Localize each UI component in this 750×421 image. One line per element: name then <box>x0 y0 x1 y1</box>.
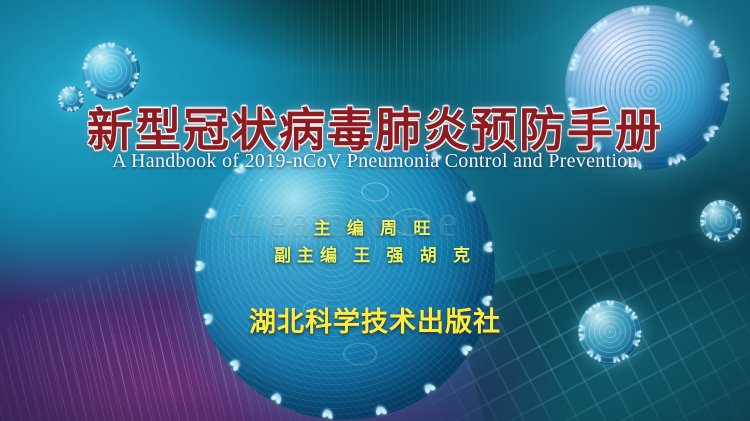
cover-text-layer: 新型冠状病毒肺炎预防手册 A Handbook of 2019-nCoV Pne… <box>0 0 750 421</box>
book-subtitle-english: A Handbook of 2019-nCoV Pneumonia Contro… <box>0 150 750 173</box>
publisher-name: 湖北科学技术出版社 <box>0 300 750 339</box>
editor-in-chief-line: 主 编 周 旺 <box>0 214 750 239</box>
book-cover: dreamstime 新型冠状病毒肺炎预防手册 A Handbook of 20… <box>0 0 750 421</box>
associate-editors-line: 副主编 王 强 胡 克 <box>0 241 750 266</box>
